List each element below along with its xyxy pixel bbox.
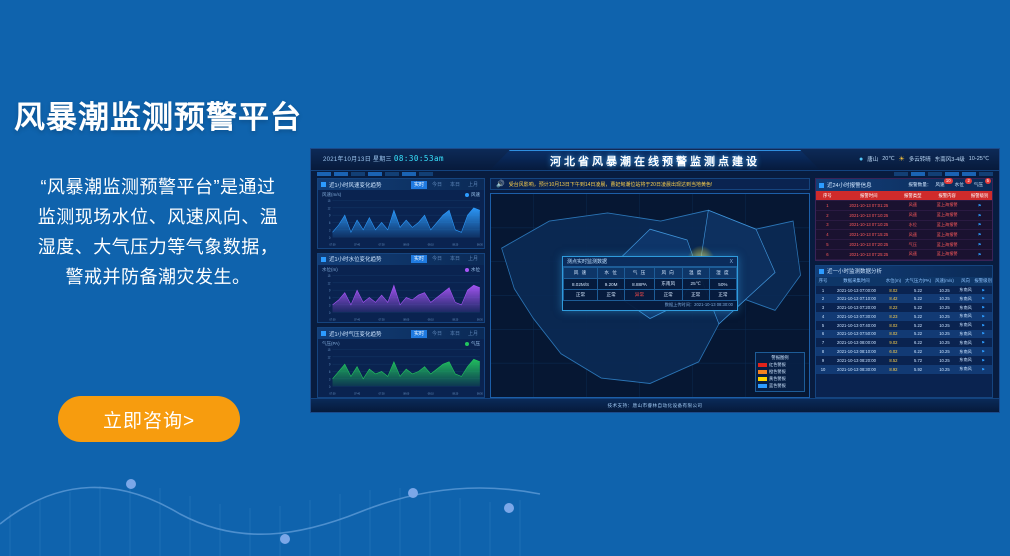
table-cell: 蓝上海报警 xyxy=(927,249,967,259)
table-cell: 6.22 xyxy=(904,347,932,356)
alarm-count-badge: 10 xyxy=(944,178,953,184)
chart-tabs: 实时 今日 本日 上月 xyxy=(411,181,481,189)
map-column: 🔊 受台风影响，预计10月13日下午到14日凌晨，曹妃甸潮位站将于20日凌晨出现… xyxy=(490,178,810,398)
chart-header: 近1小时水位变化趋势 实时 今日 本日 上月 xyxy=(318,254,484,265)
legend-swatch-orange xyxy=(758,370,767,374)
legend-swatch-yellow xyxy=(758,377,767,381)
svg-text:12: 12 xyxy=(328,355,331,359)
table-row[interactable]: 52021-10-13 07:20:25气压蓝上海报警⚑ xyxy=(816,240,992,250)
svg-text:3: 3 xyxy=(329,303,331,307)
chart-header: 近1小时风速变化趋势 实时 今日 本日 上月 xyxy=(318,179,484,190)
table-cell: 10.25 xyxy=(932,303,957,312)
chart-title: 近1小时风速变化趋势 xyxy=(329,181,382,189)
chart-tabs: 实时 今日 本日 上月 xyxy=(411,255,481,263)
table-cell: 东南风 xyxy=(957,294,975,303)
ticker-text: 受台风影响，预计10月13日下午到14日凌晨，曹妃甸潮位站将于20日凌晨出现达到… xyxy=(509,181,713,188)
charts-column: 近1小时风速变化趋势 实时 今日 本日 上月 风速(m/s) 风速 036912… xyxy=(317,178,485,398)
table-cell: 10.25 xyxy=(932,338,957,347)
tab-realtime[interactable]: 实时 xyxy=(411,181,427,189)
svg-text:15: 15 xyxy=(328,348,331,352)
chart-card-water-level: 近1小时水位变化趋势 实时 今日 本日 上月 水位(m) 水位 03691215… xyxy=(317,253,485,324)
alarm-count-label: 水位 xyxy=(955,182,964,187)
popup-value-row: 8.02M/S 9.20M 8.88PA 东南风 25℃ 50% xyxy=(564,279,737,290)
analysis-header-row: 序号 数据采集时间 水位(m) 大气压力(PA) 风速(m/s) 风向 报警级别 xyxy=(816,277,992,286)
alarm-counts: 报警数量： 风速 10 水位 2 气压 5 xyxy=(908,182,989,188)
table-cell: 5.22 xyxy=(904,294,932,303)
svg-text:08:10: 08:10 xyxy=(428,392,434,396)
table-row[interactable]: 82021-10-13 08:10:006.026.2210.25东南风⚑ xyxy=(816,347,992,356)
bell-icon: ⚑ xyxy=(974,312,992,321)
bell-icon: ⚑ xyxy=(967,240,992,250)
table-cell: 10.25 xyxy=(932,312,957,321)
table-cell: 8.92 xyxy=(883,365,904,374)
popup-value: 9.20M xyxy=(598,279,625,290)
weather-wind: 东南风3-4级 xyxy=(935,155,965,163)
table-cell: 2021-10-13 07:20:25 xyxy=(839,240,899,250)
chart-plot-wind-speed: 0369121507:0007:4007:5008:0008:1008:2008… xyxy=(318,190,484,248)
table-cell: 2021-10-13 07:10:25 xyxy=(839,220,899,230)
chart-card-wind-speed: 近1小时风速变化趋势 实时 今日 本日 上月 风速(m/s) 风速 036912… xyxy=(317,178,485,249)
chart-card-pressure: 近1小时气压变化趋势 实时 今日 本日 上月 气压(PA) 气压 0369121… xyxy=(317,327,485,398)
table-cell: 蓝上海报警 xyxy=(927,220,967,230)
alarm-count-badge: 2 xyxy=(965,178,971,184)
table-cell: 1 xyxy=(816,201,839,211)
table-cell: 8.02 xyxy=(883,330,904,339)
alarm-col-header: 报警级别 xyxy=(967,191,992,201)
table-row[interactable]: 32021-10-13 07:20:008.225.2210.25东南风⚑ xyxy=(816,303,992,312)
svg-text:12: 12 xyxy=(328,206,331,210)
table-row[interactable]: 62021-10-13 07:25:25风速蓝上海报警⚑ xyxy=(816,249,992,259)
header-date: 2021年10月13日 星期三 xyxy=(323,157,392,163)
chart-legend: 气压 xyxy=(465,341,480,347)
analysis-col-header: 序号 xyxy=(816,277,830,286)
popup-data-table: 风 速 水 位 气 压 风 向 温 度 湿 度 8.02M/S 9.20M 8.… xyxy=(563,267,737,301)
svg-text:07:50: 07:50 xyxy=(379,242,385,246)
table-cell: 蓝上海报警 xyxy=(927,230,967,240)
svg-text:0: 0 xyxy=(329,310,331,314)
dashboard-screenshot: 2021年10月13日 星期三 08:30:53am 河北省风暴潮在线预警监测点… xyxy=(310,148,1000,413)
legend-label: 橙色警报 xyxy=(769,369,786,375)
sun-cloud-icon: ☀ xyxy=(899,155,905,163)
table-cell: 2021-10-13 07:40:00 xyxy=(830,321,883,330)
legend-item: 黄色警报 xyxy=(758,376,802,382)
bell-icon: ⚑ xyxy=(974,347,992,356)
svg-text:0: 0 xyxy=(329,385,331,389)
table-cell: 东南风 xyxy=(957,347,975,356)
table-cell: 2021-10-13 07:30:00 xyxy=(830,312,883,321)
tab-today[interactable]: 今日 xyxy=(429,255,445,263)
table-cell: 6.22 xyxy=(904,338,932,347)
table-cell: 东南风 xyxy=(957,312,975,321)
map-panel[interactable]: 测点实时监测数据 X 风 速 水 位 气 压 风 向 温 度 湿 度 xyxy=(490,193,810,398)
tab-today[interactable]: 今日 xyxy=(429,181,445,189)
popup-status: 正常 xyxy=(654,290,682,301)
legend-label: 蓝色警报 xyxy=(769,383,786,389)
legend-label: 水位 xyxy=(471,267,480,273)
table-cell: 6 xyxy=(816,249,839,259)
flag-icon xyxy=(321,182,326,187)
table-cell: 2021-10-13 07:00:00 xyxy=(830,286,883,295)
tab-thisday[interactable]: 本日 xyxy=(447,181,463,189)
svg-text:9: 9 xyxy=(329,363,331,367)
map-legend-title: 警报图例 xyxy=(758,355,802,361)
table-row[interactable]: 62021-10-13 07:50:008.025.2210.25东南风⚑ xyxy=(816,330,992,339)
table-cell: 2021-10-13 08:30:00 xyxy=(830,365,883,374)
svg-text:08:20: 08:20 xyxy=(452,392,458,396)
table-cell: 2021-10-13 07:10:00 xyxy=(830,294,883,303)
table-row[interactable]: 22021-10-13 07:10:25风速蓝上海报警⚑ xyxy=(816,210,992,220)
popup-status: 正常 xyxy=(564,290,598,301)
chart-plot-pressure: 0369121507:0007:4007:5008:0008:1008:2008… xyxy=(318,339,484,397)
table-cell: 2021-10-13 08:10:00 xyxy=(830,347,883,356)
bell-icon: ⚑ xyxy=(974,286,992,295)
alarm-table: 序号 报警时间 报警类型 报警内容 报警级别 12021-10-13 07:01… xyxy=(816,191,992,260)
legend-swatch xyxy=(465,268,469,272)
bar-chart-icon xyxy=(819,269,824,274)
popup-status: 正常 xyxy=(682,290,709,301)
legend-item: 橙色警报 xyxy=(758,369,802,375)
alarm-header-row: 序号 报警时间 报警类型 报警内容 报警级别 xyxy=(816,191,992,201)
table-cell: 5.22 xyxy=(904,321,932,330)
chart-title: 近1小时气压变化趋势 xyxy=(329,330,382,338)
svg-text:15: 15 xyxy=(328,199,331,203)
table-cell: 5.72 xyxy=(904,356,932,365)
bell-icon: ⚑ xyxy=(974,365,992,374)
megaphone-icon: 🔊 xyxy=(496,180,505,188)
alert-ticker: 🔊 受台风影响，预计10月13日下午到14日凌晨，曹妃甸潮位站将于20日凌晨出现… xyxy=(490,178,810,190)
table-cell: 9.02 xyxy=(883,338,904,347)
bell-icon: ⚑ xyxy=(974,303,992,312)
table-cell: 2021-10-13 07:15:25 xyxy=(839,230,899,240)
table-cell: 东南风 xyxy=(957,338,975,347)
table-cell: 1 xyxy=(816,286,830,295)
svg-text:08:30: 08:30 xyxy=(477,392,483,396)
popup-value: 东南风 xyxy=(654,279,682,290)
analysis-panel-title: 近一小时监测数据分析 xyxy=(827,267,882,275)
table-cell: 9 xyxy=(816,356,830,365)
table-cell: 4 xyxy=(816,230,839,240)
svg-text:6: 6 xyxy=(329,295,331,299)
popup-col-header: 风 向 xyxy=(654,268,682,279)
legend-swatch xyxy=(465,342,469,346)
svg-text:08:00: 08:00 xyxy=(403,317,409,321)
table-cell: 8.22 xyxy=(883,303,904,312)
analysis-panel-header: 近一小时监测数据分析 xyxy=(816,266,992,277)
table-cell: 2021-10-13 07:10:25 xyxy=(839,210,899,220)
table-row[interactable]: 12021-10-13 07:00:008.025.2210.25东南风⚑ xyxy=(816,286,992,295)
svg-text:3: 3 xyxy=(329,228,331,232)
table-cell: 5.22 xyxy=(904,330,932,339)
alarm-col-header: 序号 xyxy=(816,191,839,201)
bell-icon: ⚑ xyxy=(974,294,992,303)
table-cell: 东南风 xyxy=(957,321,975,330)
table-cell: 10.25 xyxy=(932,321,957,330)
svg-text:0: 0 xyxy=(329,235,331,239)
popup-value: 25℃ xyxy=(682,279,709,290)
table-cell: 8.02 xyxy=(883,321,904,330)
table-cell: 风速 xyxy=(899,201,927,211)
dashboard-header: 2021年10月13日 星期三 08:30:53am 河北省风暴潮在线预警监测点… xyxy=(311,149,999,171)
table-cell: 风速 xyxy=(899,249,927,259)
table-cell: 10.25 xyxy=(932,330,957,339)
table-cell: 10.25 xyxy=(932,286,957,295)
popup-updated-time: 数据上传时间：2021-10-13 08:30:00 xyxy=(563,301,737,310)
weather-temp: 20℃ xyxy=(882,156,894,162)
popup-col-header: 湿 度 xyxy=(709,268,736,279)
popup-col-header: 风 速 xyxy=(564,268,598,279)
svg-text:08:20: 08:20 xyxy=(452,242,458,246)
popup-col-header: 温 度 xyxy=(682,268,709,279)
right-column: 近24小时报警信息 报警数量： 风速 10 水位 2 气压 xyxy=(815,178,993,398)
close-icon[interactable]: X xyxy=(730,259,733,265)
popup-status-abnormal: 异常 xyxy=(625,290,655,301)
bell-icon: ⚑ xyxy=(974,321,992,330)
table-cell: 8 xyxy=(816,347,830,356)
svg-text:6: 6 xyxy=(329,221,331,225)
table-cell: 东南风 xyxy=(957,303,975,312)
popup-title: 测点实时监测数据 xyxy=(567,258,607,265)
alarm-panel-title: 近24小时报警信息 xyxy=(827,181,872,189)
chart-y-axis-label: 风速(m/s) xyxy=(322,192,341,198)
analysis-table-body: 12021-10-13 07:00:008.025.2210.25东南风⚑220… xyxy=(816,286,992,374)
table-cell: 2021-10-13 07:50:00 xyxy=(830,330,883,339)
tab-realtime[interactable]: 实时 xyxy=(411,330,427,338)
flag-icon xyxy=(321,331,326,336)
svg-text:08:30: 08:30 xyxy=(477,242,483,246)
weather-city: 唐山 xyxy=(867,155,878,163)
table-row[interactable]: 32021-10-13 07:10:25水位蓝上海报警⚑ xyxy=(816,220,992,230)
table-cell: 8.42 xyxy=(883,294,904,303)
legend-swatch-red xyxy=(758,363,767,367)
alarm-panel: 近24小时报警信息 报警数量： 风速 10 水位 2 气压 xyxy=(815,178,993,261)
table-cell: 蓝上海报警 xyxy=(927,210,967,220)
analysis-col-header: 报警级别 xyxy=(974,277,992,286)
dashboard-footer: 技术支持：唐山市睿林自动化设备有限公司 xyxy=(311,398,999,412)
svg-text:08:00: 08:00 xyxy=(403,242,409,246)
analysis-panel: 近一小时监测数据分析 序号 数据采集时间 水位(m) 大气压力(PA) 风速(m… xyxy=(815,265,993,398)
svg-text:07:50: 07:50 xyxy=(379,392,385,396)
header-datetime: 2021年10月13日 星期三 08:30:53am xyxy=(323,154,444,163)
table-cell: 5 xyxy=(816,240,839,250)
svg-text:07:00: 07:00 xyxy=(330,317,336,321)
dashboard-title: 河北省风暴潮在线预警监测点建设 xyxy=(550,153,760,169)
table-row[interactable]: 102021-10-13 08:30:008.925.9210.25东南风⚑ xyxy=(816,365,992,374)
table-cell: 3 xyxy=(816,303,830,312)
alarm-count-badge: 5 xyxy=(985,178,991,184)
svg-text:6: 6 xyxy=(329,370,331,374)
table-cell: 风速 xyxy=(899,210,927,220)
legend-item: 红色警报 xyxy=(758,362,802,368)
svg-text:07:40: 07:40 xyxy=(354,392,360,396)
bell-icon: ⚑ xyxy=(967,220,992,230)
table-cell: 2021-10-13 07:01:25 xyxy=(839,201,899,211)
analysis-col-header: 大气压力(PA) xyxy=(904,277,932,286)
analysis-col-header: 水位(m) xyxy=(883,277,904,286)
tab-thisday[interactable]: 本日 xyxy=(447,255,463,263)
weather-range: 10-25℃ xyxy=(969,156,989,162)
table-row[interactable]: 22021-10-13 07:10:008.425.2210.25东南风⚑ xyxy=(816,294,992,303)
svg-text:15: 15 xyxy=(328,273,331,277)
tab-thisday[interactable]: 本日 xyxy=(447,330,463,338)
table-row[interactable]: 42021-10-13 07:30:008.235.2210.25东南风⚑ xyxy=(816,312,992,321)
table-cell: 东南风 xyxy=(957,356,975,365)
popup-header: 测点实时监测数据 X xyxy=(563,257,737,267)
weather-widget: ● 唐山 20℃ ☀ 多云转晴 东南风3-4级 10-25℃ xyxy=(859,155,989,163)
bell-icon: ⚑ xyxy=(974,356,992,365)
chart-y-axis-label: 水位(m) xyxy=(322,267,338,273)
promo-section: 风暴潮监测预警平台 “风暴潮监测预警平台”是通过监测现场水位、风速风向、温湿度、… xyxy=(0,0,320,556)
svg-text:12: 12 xyxy=(328,281,331,285)
chart-legend: 风速 xyxy=(465,192,480,198)
tab-lastmonth[interactable]: 上月 xyxy=(465,181,481,189)
alarm-count-wind: 风速 10 xyxy=(935,182,950,188)
table-cell: 2 xyxy=(816,210,839,220)
legend-swatch xyxy=(465,193,469,197)
table-cell: 气压 xyxy=(899,240,927,250)
table-cell: 2021-10-13 07:20:00 xyxy=(830,303,883,312)
svg-text:07:40: 07:40 xyxy=(354,317,360,321)
table-cell: 8.02 xyxy=(883,286,904,295)
svg-text:08:20: 08:20 xyxy=(452,317,458,321)
header-accent-strip xyxy=(311,172,999,177)
table-cell: 10.25 xyxy=(932,365,957,374)
chart-y-axis-label: 气压(PA) xyxy=(322,341,340,347)
popup-value: 50% xyxy=(709,279,736,290)
table-cell: 5.22 xyxy=(904,303,932,312)
legend-label: 风速 xyxy=(471,192,480,198)
alarm-col-header: 报警时间 xyxy=(839,191,899,201)
svg-text:07:00: 07:00 xyxy=(330,392,336,396)
popup-status: 正常 xyxy=(709,290,736,301)
table-row[interactable]: 92021-10-13 08:20:008.525.7210.25东南风⚑ xyxy=(816,356,992,365)
table-cell: 5 xyxy=(816,321,830,330)
popup-col-header: 水 位 xyxy=(598,268,625,279)
table-cell: 2021-10-13 07:25:25 xyxy=(839,249,899,259)
popup-status: 正常 xyxy=(598,290,625,301)
table-cell: 东南风 xyxy=(957,286,975,295)
svg-text:08:10: 08:10 xyxy=(428,317,434,321)
table-cell: 7 xyxy=(816,338,830,347)
table-cell: 水位 xyxy=(899,220,927,230)
alarm-col-header: 报警内容 xyxy=(927,191,967,201)
svg-text:9: 9 xyxy=(329,213,331,217)
table-row[interactable]: 12021-10-13 07:01:25风速蓝上海报警⚑ xyxy=(816,201,992,211)
table-cell: 东南风 xyxy=(957,365,975,374)
popup-value: 8.02M/S xyxy=(564,279,598,290)
chart-legend: 水位 xyxy=(465,267,480,273)
chart-title: 近1小时水位变化趋势 xyxy=(329,255,382,263)
alarm-count-label: 气压 xyxy=(974,182,983,187)
table-cell: 2021-10-13 08:20:00 xyxy=(830,356,883,365)
header-clock: 08:30:53am xyxy=(394,154,444,163)
table-cell: 2021-10-13 08:00:00 xyxy=(830,338,883,347)
table-cell: 3 xyxy=(816,220,839,230)
popup-value: 8.88PA xyxy=(625,279,655,290)
alarm-panel-header: 近24小时报警信息 报警数量： 风速 10 水位 2 气压 xyxy=(816,179,992,191)
dashboard-title-banner: 河北省风暴潮在线预警监测点建设 xyxy=(490,150,820,170)
tab-lastmonth[interactable]: 上月 xyxy=(465,255,481,263)
alarm-count-label: 风速 xyxy=(935,182,944,187)
svg-text:07:40: 07:40 xyxy=(354,242,360,246)
tab-realtime[interactable]: 实时 xyxy=(411,255,427,263)
table-cell: 6 xyxy=(816,330,830,339)
flag-icon xyxy=(321,257,326,262)
chart-header: 近1小时气压变化趋势 实时 今日 本日 上月 xyxy=(318,328,484,339)
page-title: 风暴潮监测预警平台 xyxy=(14,92,302,137)
tab-today[interactable]: 今日 xyxy=(429,330,445,338)
svg-text:9: 9 xyxy=(329,288,331,292)
table-cell: 10 xyxy=(816,365,830,374)
bell-icon: ⚑ xyxy=(967,230,992,240)
table-cell: 5.92 xyxy=(904,365,932,374)
analysis-col-header: 风向 xyxy=(957,277,975,286)
legend-item: 蓝色警报 xyxy=(758,383,802,389)
consult-now-button[interactable]: 立即咨询> xyxy=(58,396,240,442)
popup-status-row: 正常 正常 异常 正常 正常 正常 xyxy=(564,290,737,301)
table-cell: 5.22 xyxy=(904,312,932,321)
analysis-col-header: 数据采集时间 xyxy=(830,277,883,286)
chart-plot-water-level: 0369121507:0007:4007:5008:0008:1008:2008… xyxy=(318,265,484,323)
svg-text:08:00: 08:00 xyxy=(403,392,409,396)
svg-text:08:30: 08:30 xyxy=(477,317,483,321)
promo-description: “风暴潮监测预警平台”是通过监测现场水位、风速风向、温湿度、大气压力等气象数据，… xyxy=(36,172,280,292)
legend-label: 气压 xyxy=(471,341,480,347)
table-cell: 10.25 xyxy=(932,347,957,356)
bell-icon: ⚑ xyxy=(974,338,992,347)
measurement-popup[interactable]: 测点实时监测数据 X 风 速 水 位 气 压 风 向 温 度 湿 度 xyxy=(562,256,738,311)
alarm-col-header: 报警类型 xyxy=(899,191,927,201)
table-cell: 风速 xyxy=(899,230,927,240)
chart-tabs: 实时 今日 本日 上月 xyxy=(411,330,481,338)
alarm-table-body: 12021-10-13 07:01:25风速蓝上海报警⚑22021-10-13 … xyxy=(816,201,992,260)
popup-col-header: 气 压 xyxy=(625,268,655,279)
table-cell: 8.23 xyxy=(883,312,904,321)
table-cell: 8.52 xyxy=(883,356,904,365)
svg-text:07:50: 07:50 xyxy=(379,317,385,321)
legend-label: 黄色警报 xyxy=(769,376,786,382)
table-row[interactable]: 42021-10-13 07:15:25风速蓝上海报警⚑ xyxy=(816,230,992,240)
svg-text:07:00: 07:00 xyxy=(330,242,336,246)
svg-text:3: 3 xyxy=(329,377,331,381)
table-cell: 5.22 xyxy=(904,286,932,295)
bell-icon: ⚑ xyxy=(967,201,992,211)
legend-label: 红色警报 xyxy=(769,362,786,368)
table-cell: 2 xyxy=(816,294,830,303)
tab-lastmonth[interactable]: 上月 xyxy=(465,330,481,338)
table-row[interactable]: 72021-10-13 08:00:009.026.2210.25东南风⚑ xyxy=(816,338,992,347)
table-cell: 东南风 xyxy=(957,330,975,339)
alarm-icon xyxy=(819,183,824,188)
table-cell: 蓝上海报警 xyxy=(927,240,967,250)
table-row[interactable]: 52021-10-13 07:40:008.025.2210.25东南风⚑ xyxy=(816,321,992,330)
popup-header-row: 风 速 水 位 气 压 风 向 温 度 湿 度 xyxy=(564,268,737,279)
alarm-count-water: 水位 2 xyxy=(955,182,970,188)
table-cell: 4 xyxy=(816,312,830,321)
svg-text:08:10: 08:10 xyxy=(428,242,434,246)
bell-icon: ⚑ xyxy=(974,330,992,339)
weather-condition: 多云转晴 xyxy=(909,155,931,163)
alarm-counts-label: 报警数量： xyxy=(908,182,931,188)
footer-text: 技术支持：唐山市睿林自动化设备有限公司 xyxy=(608,403,703,409)
table-cell: 10.25 xyxy=(932,294,957,303)
bell-icon: ⚑ xyxy=(967,249,992,259)
table-cell: 10.25 xyxy=(932,356,957,365)
location-pin-icon: ● xyxy=(859,156,863,163)
legend-swatch-blue xyxy=(758,384,767,388)
analysis-table: 序号 数据采集时间 水位(m) 大气压力(PA) 风速(m/s) 风向 报警级别… xyxy=(816,277,992,374)
table-cell: 蓝上海报警 xyxy=(927,201,967,211)
map-legend: 警报图例 红色警报 橙色警报 黄色警报 蓝色警 xyxy=(755,352,805,392)
